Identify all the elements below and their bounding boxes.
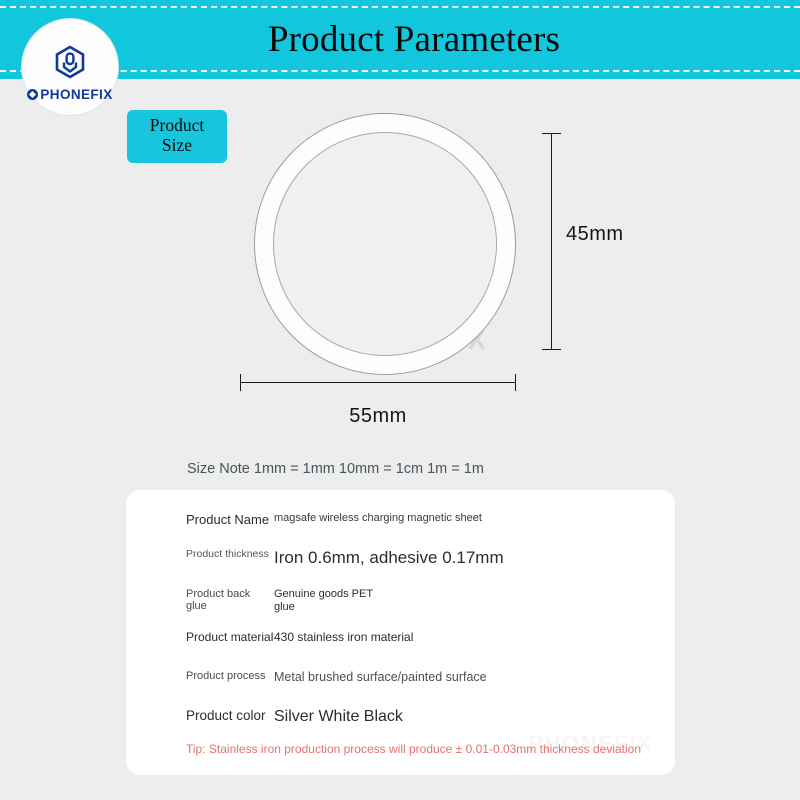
spec-label: Product thickness xyxy=(126,548,274,560)
table-row: Product back glue Genuine goods PET glue xyxy=(126,588,675,614)
card-watermark: PHONEFIX xyxy=(529,731,653,757)
gear-icon xyxy=(27,89,38,100)
page-title: Product Parameters xyxy=(0,0,800,79)
spec-label: Product color xyxy=(126,708,274,723)
brand-logo-badge: PHONEFIX xyxy=(21,18,119,116)
phonefix-hex-logo-icon xyxy=(53,45,87,84)
table-row: Product color Silver White Black xyxy=(126,708,675,726)
brand-name-text: PHONEFIX xyxy=(40,87,112,102)
dimension-cap-top xyxy=(542,133,561,134)
spec-value: magsafe wireless charging magnetic sheet xyxy=(274,512,482,524)
dimension-label-width: 55mm xyxy=(240,405,516,428)
product-size-badge-line1: Product xyxy=(131,116,223,136)
magnetic-ring-inner-outline xyxy=(273,132,497,356)
product-size-badge-line2: Size xyxy=(131,136,223,156)
dimension-label-height: 45mm xyxy=(566,223,624,246)
spec-value: 430 stainless iron material xyxy=(274,630,413,644)
product-size-diagram: © PHONEFIX 45mm 55mm xyxy=(0,95,800,445)
specification-card: Product Name magsafe wireless charging m… xyxy=(126,490,675,775)
dimension-cap-bottom xyxy=(542,349,561,350)
magnetic-ring-outline xyxy=(254,113,516,375)
dimension-cap-right xyxy=(515,374,516,391)
spec-label: Product Name xyxy=(126,512,274,527)
product-size-badge: Product Size xyxy=(127,110,227,163)
brand-wordmark: PHONEFIX xyxy=(27,87,112,102)
size-note-text: Size Note 1mm = 1mm 10mm = 1cm 1m = 1m xyxy=(187,461,484,477)
spec-value: Silver White Black xyxy=(274,708,403,726)
table-row: Product process Metal brushed surface/pa… xyxy=(126,670,675,684)
table-row: Product Name magsafe wireless charging m… xyxy=(126,512,675,527)
spec-value: Metal brushed surface/painted surface xyxy=(274,670,487,684)
spec-value: Iron 0.6mm, adhesive 0.17mm xyxy=(274,548,504,568)
dimension-cap-left xyxy=(240,374,241,391)
table-row: Product thickness Iron 0.6mm, adhesive 0… xyxy=(126,548,675,568)
spec-value: Genuine goods PET glue xyxy=(274,588,373,614)
table-row: Product material 430 stainless iron mate… xyxy=(126,630,675,644)
dimension-line-horizontal xyxy=(240,382,516,383)
dimension-line-vertical xyxy=(551,133,552,350)
spec-label: Product back glue xyxy=(126,588,274,612)
spec-label: Product process xyxy=(126,670,274,682)
spec-label: Product material xyxy=(126,630,274,644)
